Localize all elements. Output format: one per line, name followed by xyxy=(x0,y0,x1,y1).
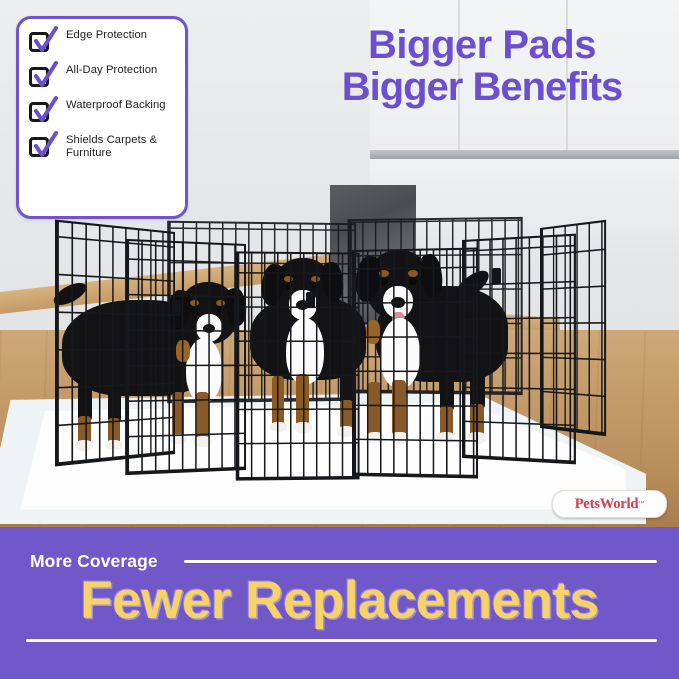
brand-logo: PetsWorld ™ xyxy=(552,490,667,518)
feature-item: Shields Carpets & Furniture xyxy=(28,133,177,161)
feature-label: Waterproof Backing xyxy=(66,98,166,112)
pen-panel-2 xyxy=(125,239,246,475)
pen-latch-icon xyxy=(306,292,315,308)
product-marketing-image: Edge Protection All-Day Protection Water… xyxy=(0,0,679,679)
feature-list-card: Edge Protection All-Day Protection Water… xyxy=(16,16,188,219)
trademark-symbol: ™ xyxy=(638,501,644,507)
pen-latch-icon xyxy=(492,268,501,284)
pen-latch-icon xyxy=(172,300,181,316)
headline-line-2: Bigger Benefits xyxy=(307,66,657,108)
feature-item: Edge Protection xyxy=(28,28,177,56)
pen-panel-3 xyxy=(236,251,360,480)
bottom-banner: More Coverage Fewer Replacements xyxy=(0,527,679,679)
banner-rule-bottom xyxy=(26,639,657,642)
headline: Bigger Pads Bigger Benefits xyxy=(307,24,657,108)
feature-label: All-Day Protection xyxy=(66,63,157,77)
banner-rule-top xyxy=(184,560,657,563)
checkbox-checked-icon xyxy=(28,99,58,126)
pen-panel-4 xyxy=(352,248,478,479)
brand-logo-text: PetsWorld xyxy=(575,496,638,513)
pen-panel-6 xyxy=(540,220,606,437)
checkbox-checked-icon xyxy=(28,29,58,56)
headline-line-1: Bigger Pads xyxy=(368,23,596,67)
banner-headline: Fewer Replacements xyxy=(0,571,679,631)
banner-kicker-row: More Coverage xyxy=(30,551,657,572)
checkbox-checked-icon xyxy=(28,64,58,91)
feature-label: Edge Protection xyxy=(66,28,147,42)
feature-item: All-Day Protection xyxy=(28,63,177,91)
feature-item: Waterproof Backing xyxy=(28,98,177,126)
checkbox-checked-icon xyxy=(28,134,58,161)
banner-kicker: More Coverage xyxy=(30,551,158,572)
feature-label: Shields Carpets & Furniture xyxy=(66,133,177,159)
